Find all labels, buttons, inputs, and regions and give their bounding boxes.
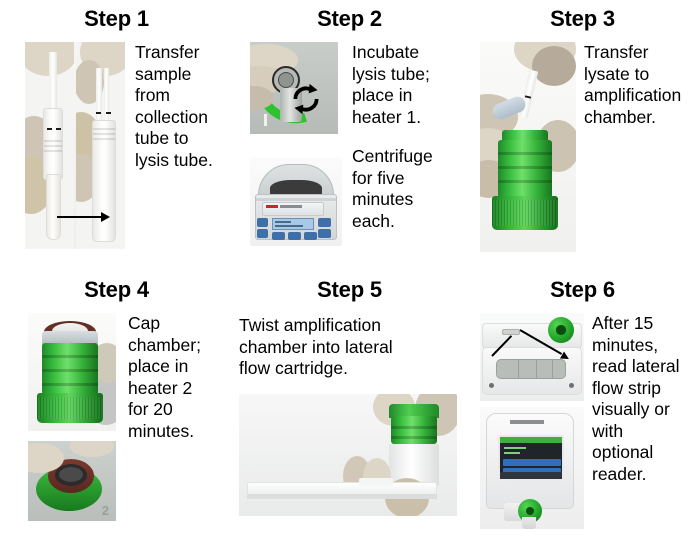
step-2-instruction-text-primary: Incubate lysis tube; place in heater 1. (352, 42, 456, 128)
reader-brand-mark (510, 420, 544, 424)
lateral-flow-cartridge-photo (480, 313, 584, 401)
step-6-instruction-text: After 15 minutes, read lateral flow stri… (592, 313, 696, 485)
step-5-panel: Step 5 Twist amplification chamber into … (233, 277, 466, 516)
step-5-title: Step 5 (233, 277, 466, 303)
step-4-title: Step 4 (0, 277, 233, 303)
step-1-instruction-text: Transfer sample from collection tube to … (135, 42, 233, 171)
step-4-instruction-text: Cap chamber; place in heater 2 for 20 mi… (128, 313, 228, 442)
centrifuge-photo (250, 158, 342, 246)
step-2-panel: Step 2 (233, 6, 466, 246)
optional-reader-photo (480, 407, 584, 529)
instruction-sheet: Step 1 (0, 0, 700, 537)
step-3-title: Step 3 (466, 6, 699, 32)
heater-well-label-2: 2 (102, 503, 109, 518)
step-2-title: Step 2 (233, 6, 466, 32)
step-3-instruction-text: Transfer lysate to amplification chamber… (584, 42, 696, 128)
step-1-title: Step 1 (0, 6, 233, 32)
step-6-title: Step 6 (466, 277, 699, 303)
capped-chamber-photo (28, 313, 116, 431)
step-4-panel: Step 4 (0, 277, 233, 521)
heater-2-photo: 2 (28, 441, 116, 521)
twist-chamber-into-cartridge-photo (239, 394, 457, 516)
step-6-panel: Step 6 (466, 277, 699, 529)
step-1-panel: Step 1 (0, 6, 233, 249)
lysate-to-chamber-photo (480, 42, 576, 252)
green-cap-icon (548, 317, 574, 343)
collection-tube-to-lysis-tube-photo (25, 42, 125, 249)
step-2-instruction-text-secondary: Centrifuge for five minutes each. (352, 146, 456, 232)
rotate-icon (289, 82, 323, 116)
step-3-panel: Step 3 (466, 6, 699, 252)
step-5-instruction-text: Twist amplification chamber into lateral… (239, 315, 463, 380)
